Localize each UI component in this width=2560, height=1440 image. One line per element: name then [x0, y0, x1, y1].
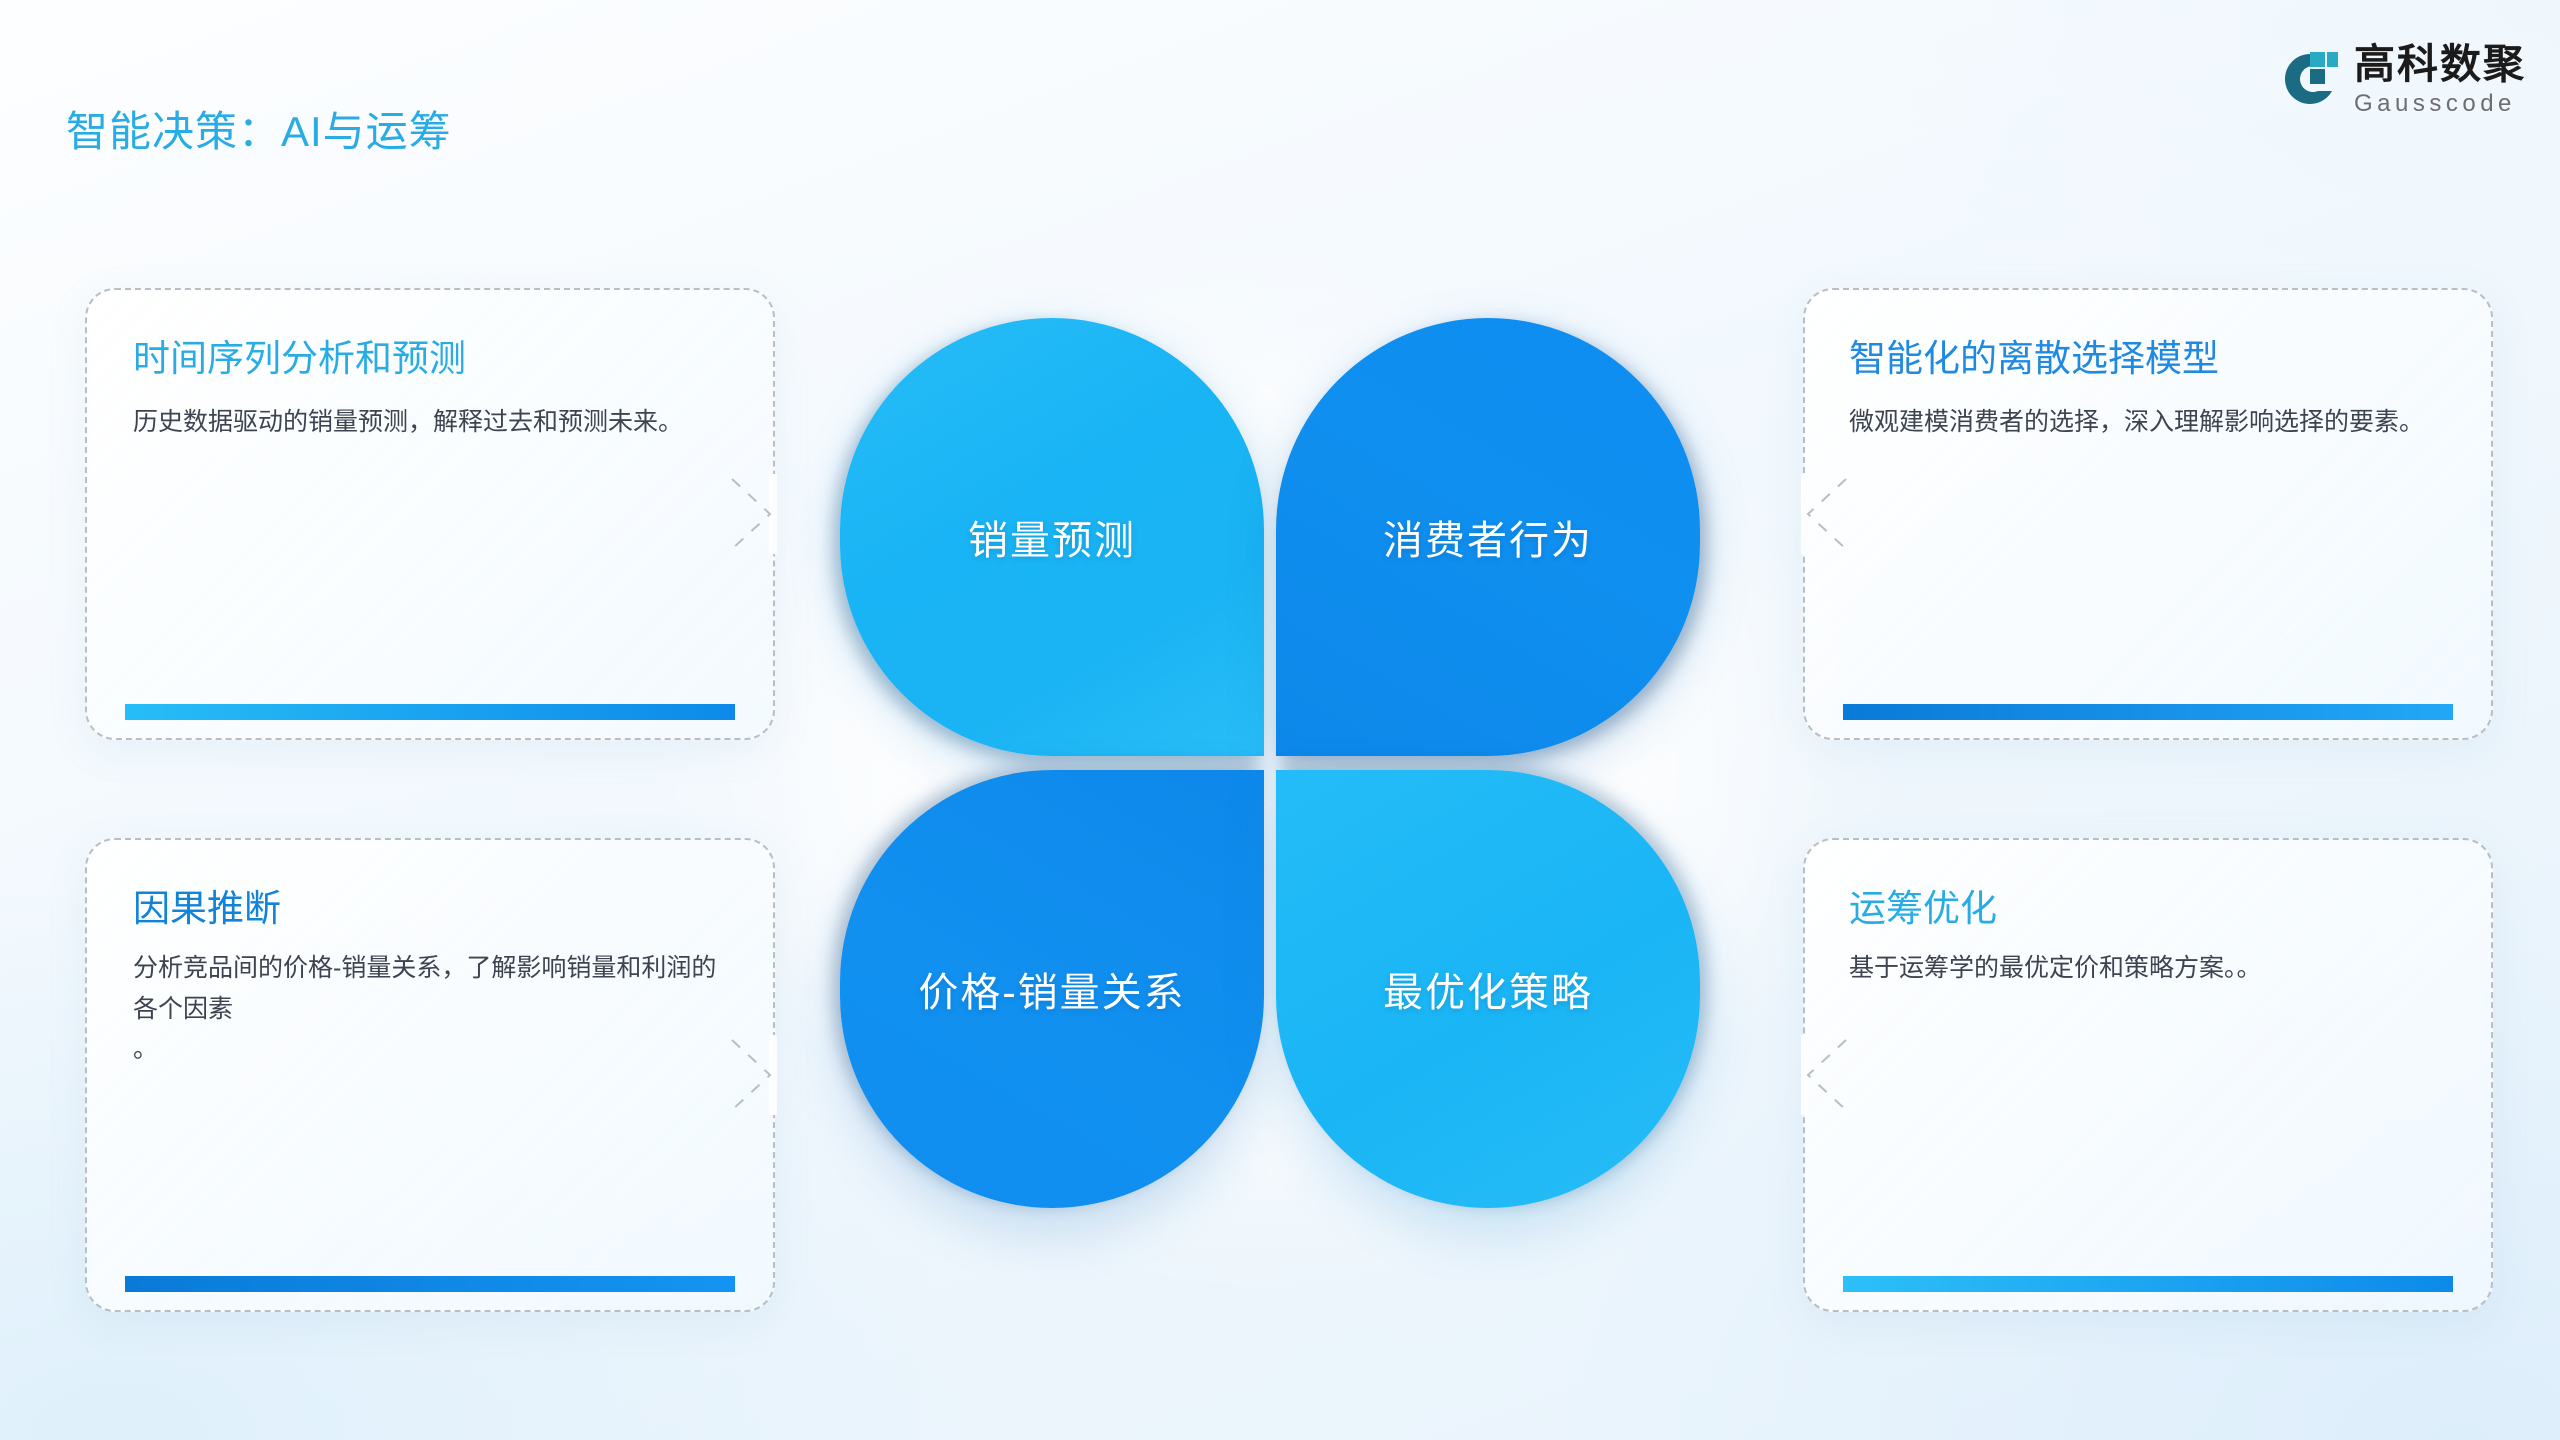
notch-mask	[769, 1035, 777, 1115]
petal-sales-forecast[interactable]: 销量预测	[840, 318, 1264, 756]
card-discrete-choice-model[interactable]: 智能化的离散选择模型 微观建模消费者的选择，深入理解影响选择的要素。	[1803, 288, 2493, 740]
notch-mask	[1801, 1035, 1809, 1115]
petal-consumer-behavior[interactable]: 消费者行为	[1276, 318, 1700, 756]
card-accent-bar	[1843, 1276, 2453, 1292]
slide-canvas: 智能决策：AI与运筹 高科数聚 Gausscode 销量预测 消费者行为 价格-…	[0, 0, 2560, 1440]
petal-label: 价格-销量关系	[918, 960, 1185, 1018]
logo-name-cn: 高科数聚	[2354, 44, 2526, 85]
notch-mask	[1801, 474, 1809, 554]
card-body: 微观建模消费者的选择，深入理解影响选择的要素。	[1849, 402, 2455, 443]
card-body: 历史数据驱动的销量预测，解释过去和预测未来。	[133, 402, 733, 443]
card-body: 基于运筹学的最优定价和策略方案。。	[1849, 948, 2455, 989]
card-title: 因果推断	[133, 878, 281, 932]
card-accent-bar	[125, 1276, 735, 1292]
petal-price-sales-relation[interactable]: 价格-销量关系	[840, 770, 1264, 1208]
card-body: 分析竞品间的价格-销量关系，了解影响销量和利润的各个因素 。	[133, 948, 733, 1070]
petal-label: 消费者行为	[1383, 508, 1593, 566]
card-causal-inference[interactable]: 因果推断 分析竞品间的价格-销量关系，了解影响销量和利润的各个因素 。	[85, 838, 775, 1312]
card-title: 智能化的离散选择模型	[1849, 328, 2219, 382]
page-title: 智能决策：AI与运筹	[66, 98, 452, 159]
card-time-series[interactable]: 时间序列分析和预测 历史数据驱动的销量预测，解释过去和预测未来。	[85, 288, 775, 740]
notch-mask	[769, 474, 777, 554]
card-accent-bar	[125, 704, 735, 720]
petal-glow	[720, 208, 1820, 1328]
gausscode-logo-icon	[2282, 51, 2338, 109]
petal-cluster: 销量预测 消费者行为 价格-销量关系 最优化策略	[840, 318, 1700, 1208]
logo-name-en: Gausscode	[2354, 92, 2526, 116]
card-operations-optimization[interactable]: 运筹优化 基于运筹学的最优定价和策略方案。。	[1803, 838, 2493, 1312]
card-title: 时间序列分析和预测	[133, 328, 466, 382]
petal-label: 最优化策略	[1383, 960, 1593, 1018]
card-accent-bar	[1843, 704, 2453, 720]
brand-logo: 高科数聚 Gausscode	[2282, 44, 2526, 116]
card-title: 运筹优化	[1849, 878, 1997, 932]
petal-optimization-strategy[interactable]: 最优化策略	[1276, 770, 1700, 1208]
petal-label: 销量预测	[968, 508, 1136, 566]
